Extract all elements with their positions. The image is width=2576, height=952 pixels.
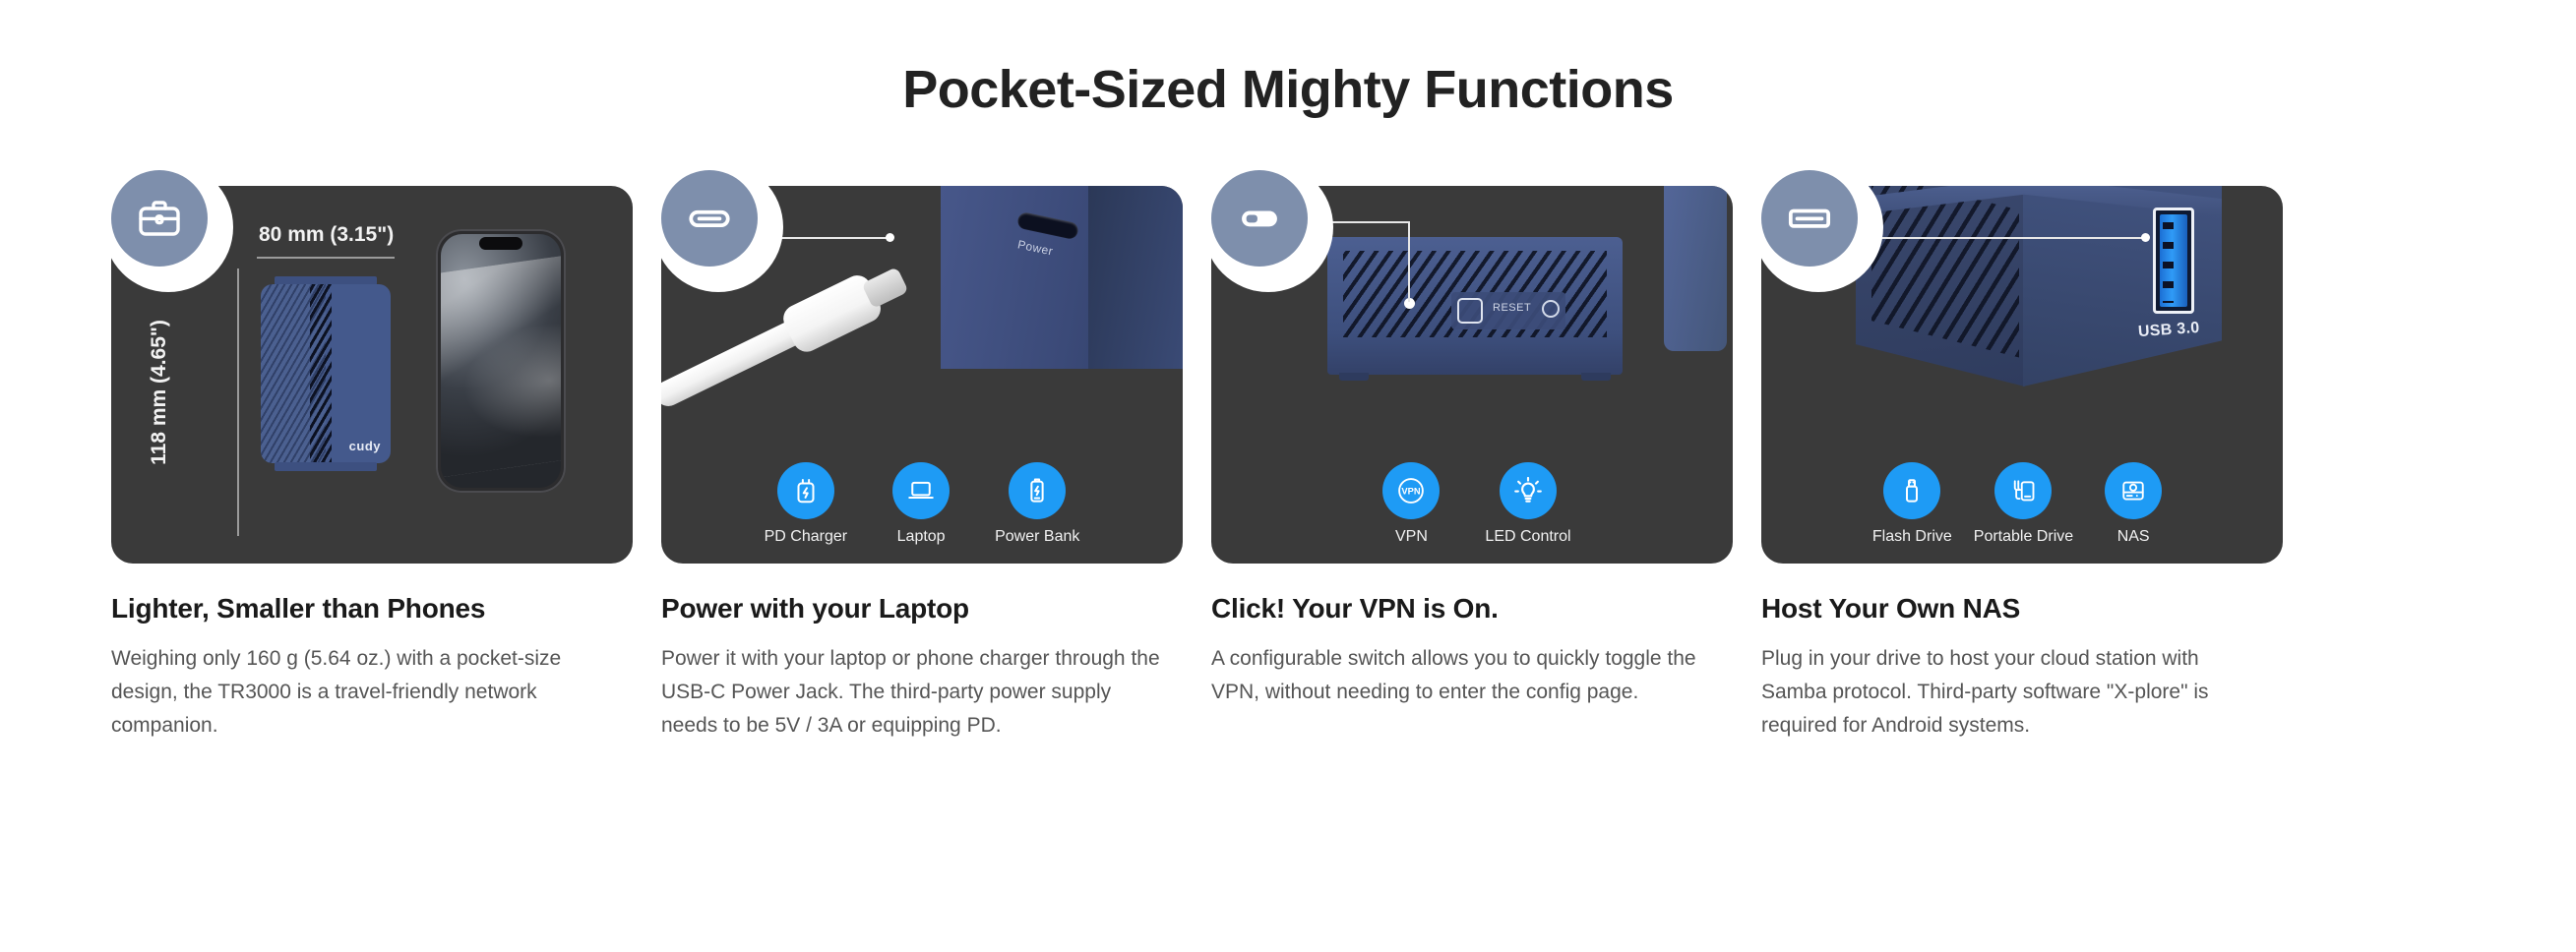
pd-charger-icon bbox=[777, 462, 834, 519]
icon-item-portable-drive: Portable Drive bbox=[1974, 462, 2073, 546]
icon-label: Power Bank bbox=[995, 528, 1079, 546]
router-side-edge bbox=[1088, 186, 1183, 369]
width-dimension-label: 80 mm (3.15") bbox=[259, 223, 394, 247]
phone-wallpaper-swirl bbox=[441, 252, 561, 481]
leader-dot bbox=[886, 233, 894, 242]
router-foot-left bbox=[1339, 373, 1369, 381]
icon-label: Laptop bbox=[897, 528, 946, 546]
vpn-switch-button bbox=[1457, 298, 1483, 324]
cudy-logo: cudy bbox=[349, 439, 381, 453]
nas-icon bbox=[2105, 462, 2162, 519]
feature-card-size: 80 mm (3.15") 118 mm (4.65") cudy bbox=[111, 170, 633, 743]
phone-screen bbox=[441, 234, 561, 488]
router-device-image: cudy bbox=[261, 276, 391, 471]
portable-drive-icon bbox=[1994, 462, 2052, 519]
usb-c-icon bbox=[661, 170, 758, 267]
flash-drive-icon bbox=[1883, 462, 1940, 519]
icon-label: NAS bbox=[2117, 528, 2150, 546]
feature-card-power: Power bbox=[661, 170, 1183, 743]
feature-body: A configurable switch allows you to quic… bbox=[1211, 642, 1713, 709]
leader-line bbox=[771, 237, 889, 239]
feature-visual: USB 3.0 bbox=[1761, 170, 2283, 564]
toggle-switch-icon bbox=[1211, 170, 1308, 267]
port-label: Power bbox=[1016, 238, 1055, 259]
reset-pinhole bbox=[1542, 300, 1560, 318]
leader-line bbox=[1864, 237, 2145, 239]
reset-label: RESET bbox=[1493, 302, 1531, 314]
router-vent-pattern bbox=[1871, 186, 2019, 358]
phone-dynamic-island bbox=[479, 237, 522, 250]
feature-card-nas: USB 3.0 bbox=[1761, 170, 2283, 743]
briefcase-icon bbox=[111, 170, 208, 267]
feature-card-vpn: RESET bbox=[1211, 170, 1733, 743]
icon-item-nas: NAS bbox=[2095, 462, 2172, 546]
router-foot-bottom bbox=[275, 462, 377, 471]
power-bank-icon bbox=[1009, 462, 1066, 519]
feature-visual: RESET bbox=[1211, 170, 1733, 564]
router-foot-right bbox=[1581, 373, 1611, 381]
icon-item-vpn: VPN VPN bbox=[1373, 462, 1449, 546]
page-title: Pocket-Sized Mighty Functions bbox=[0, 0, 2576, 119]
icon-label: LED Control bbox=[1485, 528, 1570, 546]
usb-3-port bbox=[2153, 208, 2194, 314]
router-top-view: Power bbox=[941, 186, 1183, 369]
usb-c-port bbox=[1016, 211, 1079, 241]
router-antenna bbox=[1664, 186, 1727, 351]
icon-item-power-bank: Power Bank bbox=[995, 462, 1079, 546]
feature-body: Power it with your laptop or phone charg… bbox=[661, 642, 1163, 743]
icon-item-pd-charger: PD Charger bbox=[765, 462, 847, 546]
feature-page: Pocket-Sized Mighty Functions 80 mm (3.1… bbox=[0, 0, 2576, 952]
icon-item-flash-drive: Flash Drive bbox=[1872, 462, 1952, 546]
feature-grid: 80 mm (3.15") 118 mm (4.65") cudy bbox=[0, 170, 2576, 743]
feature-visual: 80 mm (3.15") 118 mm (4.65") cudy bbox=[111, 170, 633, 564]
height-dimension-label: 118 mm (4.65") bbox=[148, 321, 171, 466]
icon-item-laptop: Laptop bbox=[883, 462, 959, 546]
leader-line-vertical bbox=[1408, 221, 1410, 302]
laptop-icon bbox=[892, 462, 950, 519]
icon-label: Flash Drive bbox=[1872, 528, 1952, 546]
vpn-icon: VPN bbox=[1382, 462, 1440, 519]
router-body: cudy bbox=[261, 284, 391, 463]
width-dimension-line bbox=[257, 257, 395, 259]
feature-body: Weighing only 160 g (5.64 oz.) with a po… bbox=[111, 642, 613, 743]
led-control-icon bbox=[1500, 462, 1557, 519]
router-vent-dark-stripe bbox=[310, 284, 332, 463]
usb-port-inner bbox=[2160, 214, 2187, 307]
height-dimension-line bbox=[237, 268, 239, 536]
icon-row: PD Charger Laptop bbox=[661, 462, 1183, 546]
icon-row: VPN VPN bbox=[1211, 462, 1733, 546]
router-control-panel: RESET bbox=[1451, 292, 1565, 329]
usb-port-pins bbox=[2163, 222, 2174, 303]
router-rear-view: RESET bbox=[1327, 237, 1623, 375]
feature-heading: Lighter, Smaller than Phones bbox=[111, 593, 633, 625]
icon-label: PD Charger bbox=[765, 528, 847, 546]
feature-heading: Click! Your VPN is On. bbox=[1211, 593, 1733, 625]
icon-row: Flash Drive bbox=[1761, 462, 2283, 546]
icon-item-led-control: LED Control bbox=[1485, 462, 1570, 546]
icon-label: Portable Drive bbox=[1974, 528, 2073, 546]
feature-heading: Host Your Own NAS bbox=[1761, 593, 2283, 625]
usb-a-icon bbox=[1761, 170, 1858, 267]
svg-text:VPN: VPN bbox=[1402, 487, 1421, 497]
router-corner-view: USB 3.0 bbox=[1856, 186, 2222, 388]
feature-visual: Power bbox=[661, 170, 1183, 564]
feature-body: Plug in your drive to host your cloud st… bbox=[1761, 642, 2263, 743]
icon-label: VPN bbox=[1395, 528, 1428, 546]
feature-heading: Power with your Laptop bbox=[661, 593, 1183, 625]
phone-image bbox=[436, 229, 566, 493]
